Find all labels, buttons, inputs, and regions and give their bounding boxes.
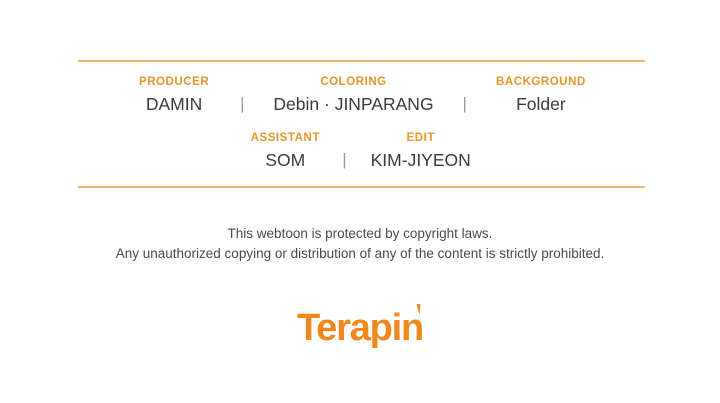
credit-label-coloring: COLORING xyxy=(320,75,386,90)
credit-value-producer: DAMIN xyxy=(146,92,202,116)
credits-row-secondary: ASSISTANT SOM | EDIT KIM-JIYEON xyxy=(78,116,645,172)
credits-row-primary: PRODUCER DAMIN | COLORING Debin · JINPAR… xyxy=(78,60,645,116)
credit-group-assistant: ASSISTANT SOM xyxy=(236,131,334,172)
credits-card: PRODUCER DAMIN | COLORING Debin · JINPAR… xyxy=(0,0,720,403)
credit-group-coloring: COLORING Debin · JINPARANG xyxy=(253,75,455,116)
wedge-accent-icon xyxy=(410,304,420,315)
credit-group-background: BACKGROUND Folder xyxy=(475,75,607,116)
credit-separator: | xyxy=(232,92,252,116)
credit-group-edit: EDIT KIM-JIYEON xyxy=(355,131,487,172)
credit-separator: | xyxy=(334,148,354,172)
credit-group-producer: PRODUCER DAMIN xyxy=(116,75,232,116)
brand-logo-wrap: Terapin xyxy=(0,305,720,351)
credits-block: PRODUCER DAMIN | COLORING Debin · JINPAR… xyxy=(78,60,645,186)
credit-label-edit: EDIT xyxy=(407,131,435,146)
credit-label-assistant: ASSISTANT xyxy=(251,131,320,146)
credit-value-edit: KIM-JIYEON xyxy=(371,148,471,172)
copyright-notice: This webtoon is protected by copyright l… xyxy=(0,224,720,263)
credit-value-coloring: Debin · JINPARANG xyxy=(273,92,433,116)
copyright-line-1: This webtoon is protected by copyright l… xyxy=(0,224,720,244)
credit-label-background: BACKGROUND xyxy=(496,75,586,90)
brand-logo-text: Terapin xyxy=(297,307,423,349)
copyright-line-2: Any unauthorized copying or distribution… xyxy=(0,244,720,264)
divider-bottom xyxy=(78,186,645,188)
credit-value-background: Folder xyxy=(516,92,566,116)
credit-separator: | xyxy=(455,92,475,116)
brand-logo: Terapin xyxy=(297,305,423,351)
credit-value-assistant: SOM xyxy=(265,148,305,172)
credit-label-producer: PRODUCER xyxy=(139,75,209,90)
